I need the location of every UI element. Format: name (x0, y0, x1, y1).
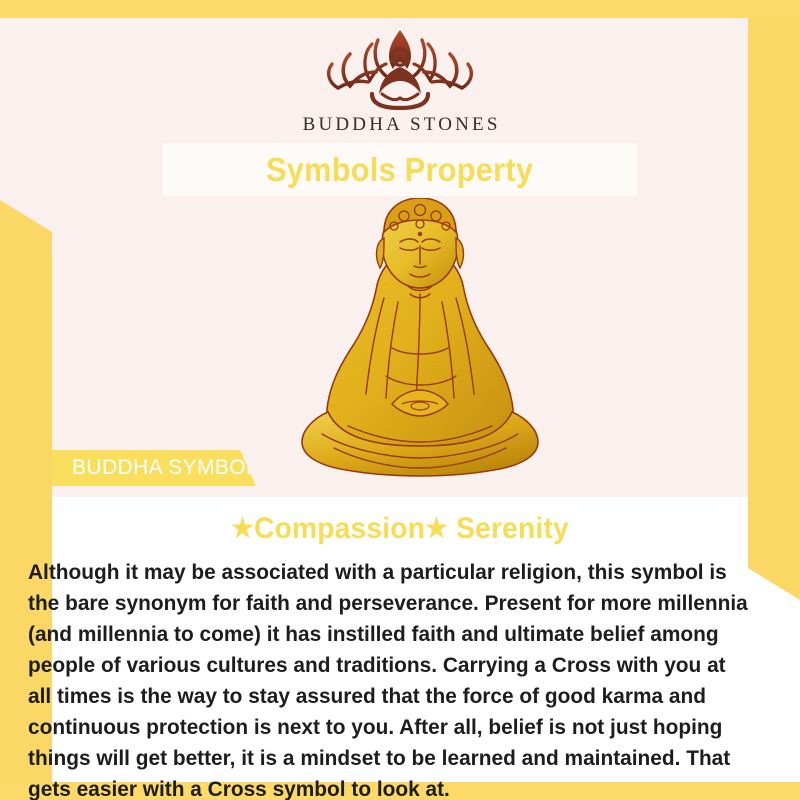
keyword-compassion: Compassion (254, 512, 425, 545)
golden-seated-buddha-icon (288, 198, 552, 486)
brand-header: BUDDHA STONES (0, 24, 800, 136)
hero-image (288, 198, 552, 486)
brand-name: BUDDHA STONES (0, 114, 800, 136)
star-icon-2: ★ (425, 513, 448, 543)
page-title: Symbols Property (266, 151, 533, 189)
keyword-line: ★Compassion★ Serenity (24, 512, 776, 546)
title-band: Symbols Property (163, 143, 637, 196)
promo-banner: BUDDHA STONES Symbols Property (0, 0, 800, 800)
lotus-meditation-logo-icon (310, 24, 490, 110)
frame-top-bar (0, 0, 800, 18)
section-ribbon-label: BUDDHA SYMBOL (52, 456, 258, 480)
section-ribbon: BUDDHA SYMBOL (52, 450, 256, 486)
body-paragraph: Although it may be associated with a par… (28, 557, 750, 800)
star-icon: ★ (231, 513, 254, 543)
keyword-serenity: Serenity (456, 512, 569, 545)
